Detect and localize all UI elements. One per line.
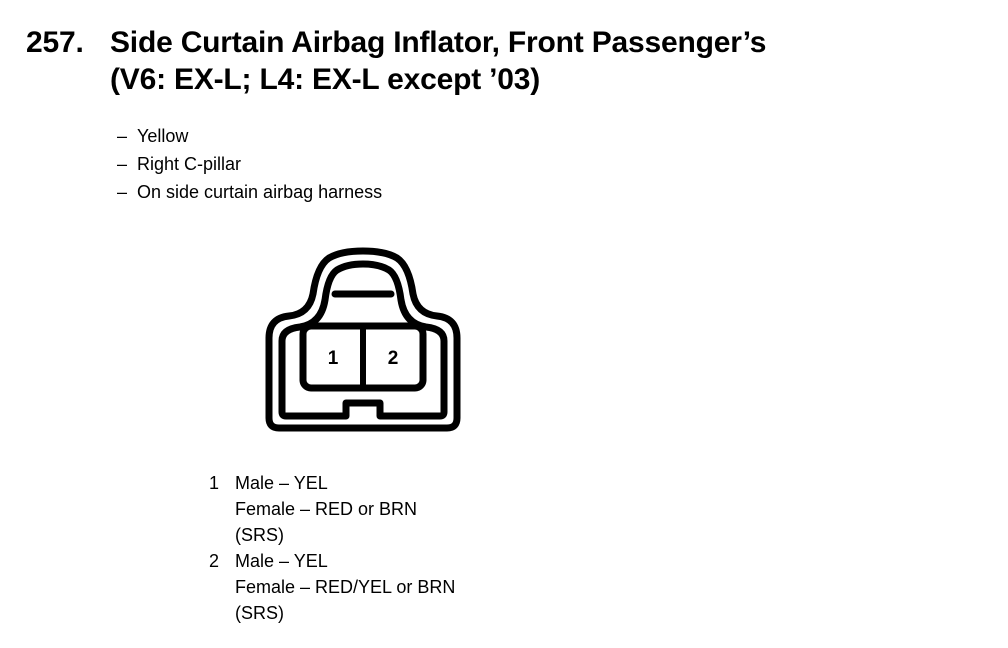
list-item-label: Yellow — [137, 122, 188, 150]
pin-legend: 1 Male – YEL Female – RED or BRN (SRS) 2… — [209, 470, 809, 626]
connector-svg: 1 2 — [255, 238, 471, 438]
pin-description: Male – YEL Female – RED/YEL or BRN (SRS) — [235, 548, 809, 626]
pin-description: Male – YEL Female – RED or BRN (SRS) — [235, 470, 809, 548]
pin-legend-entry-1: 1 Male – YEL Female – RED or BRN (SRS) — [209, 470, 809, 548]
pin-line-male: Male – YEL — [235, 470, 809, 496]
pin-line-system: (SRS) — [235, 600, 809, 626]
list-item: – Right C-pillar — [117, 150, 717, 178]
cavity-label-2: 2 — [388, 348, 399, 369]
list-item-label: On side curtain airbag harness — [137, 178, 382, 206]
dash-bullet-icon: – — [117, 150, 137, 178]
title-text-line-1: Side Curtain Airbag Inflator, Front Pass… — [110, 24, 766, 61]
dash-bullet-icon: – — [117, 178, 137, 206]
dash-bullet-icon: – — [117, 122, 137, 150]
pin-line-system: (SRS) — [235, 522, 809, 548]
list-item: – On side curtain airbag harness — [117, 178, 717, 206]
cavity-label-1: 1 — [328, 348, 339, 369]
pin-legend-entry-2: 2 Male – YEL Female – RED/YEL or BRN (SR… — [209, 548, 809, 626]
pin-line-male: Male – YEL — [235, 548, 809, 574]
list-item-label: Right C-pillar — [137, 150, 241, 178]
page-title: 257. Side Curtain Airbag Inflator, Front… — [26, 24, 986, 98]
pin-number: 2 — [209, 548, 235, 574]
attribute-list: – Yellow – Right C-pillar – On side curt… — [117, 122, 717, 206]
entry-number: 257. — [26, 24, 110, 61]
title-line-1: 257. Side Curtain Airbag Inflator, Front… — [26, 24, 986, 61]
title-line-2: (V6: EX-L; L4: EX-L except ’03) — [26, 61, 986, 98]
connector-diagram: 1 2 — [255, 238, 471, 438]
pin-number: 1 — [209, 470, 235, 496]
pin-line-female: Female – RED/YEL or BRN — [235, 574, 809, 600]
pin-line-female: Female – RED or BRN — [235, 496, 809, 522]
list-item: – Yellow — [117, 122, 717, 150]
